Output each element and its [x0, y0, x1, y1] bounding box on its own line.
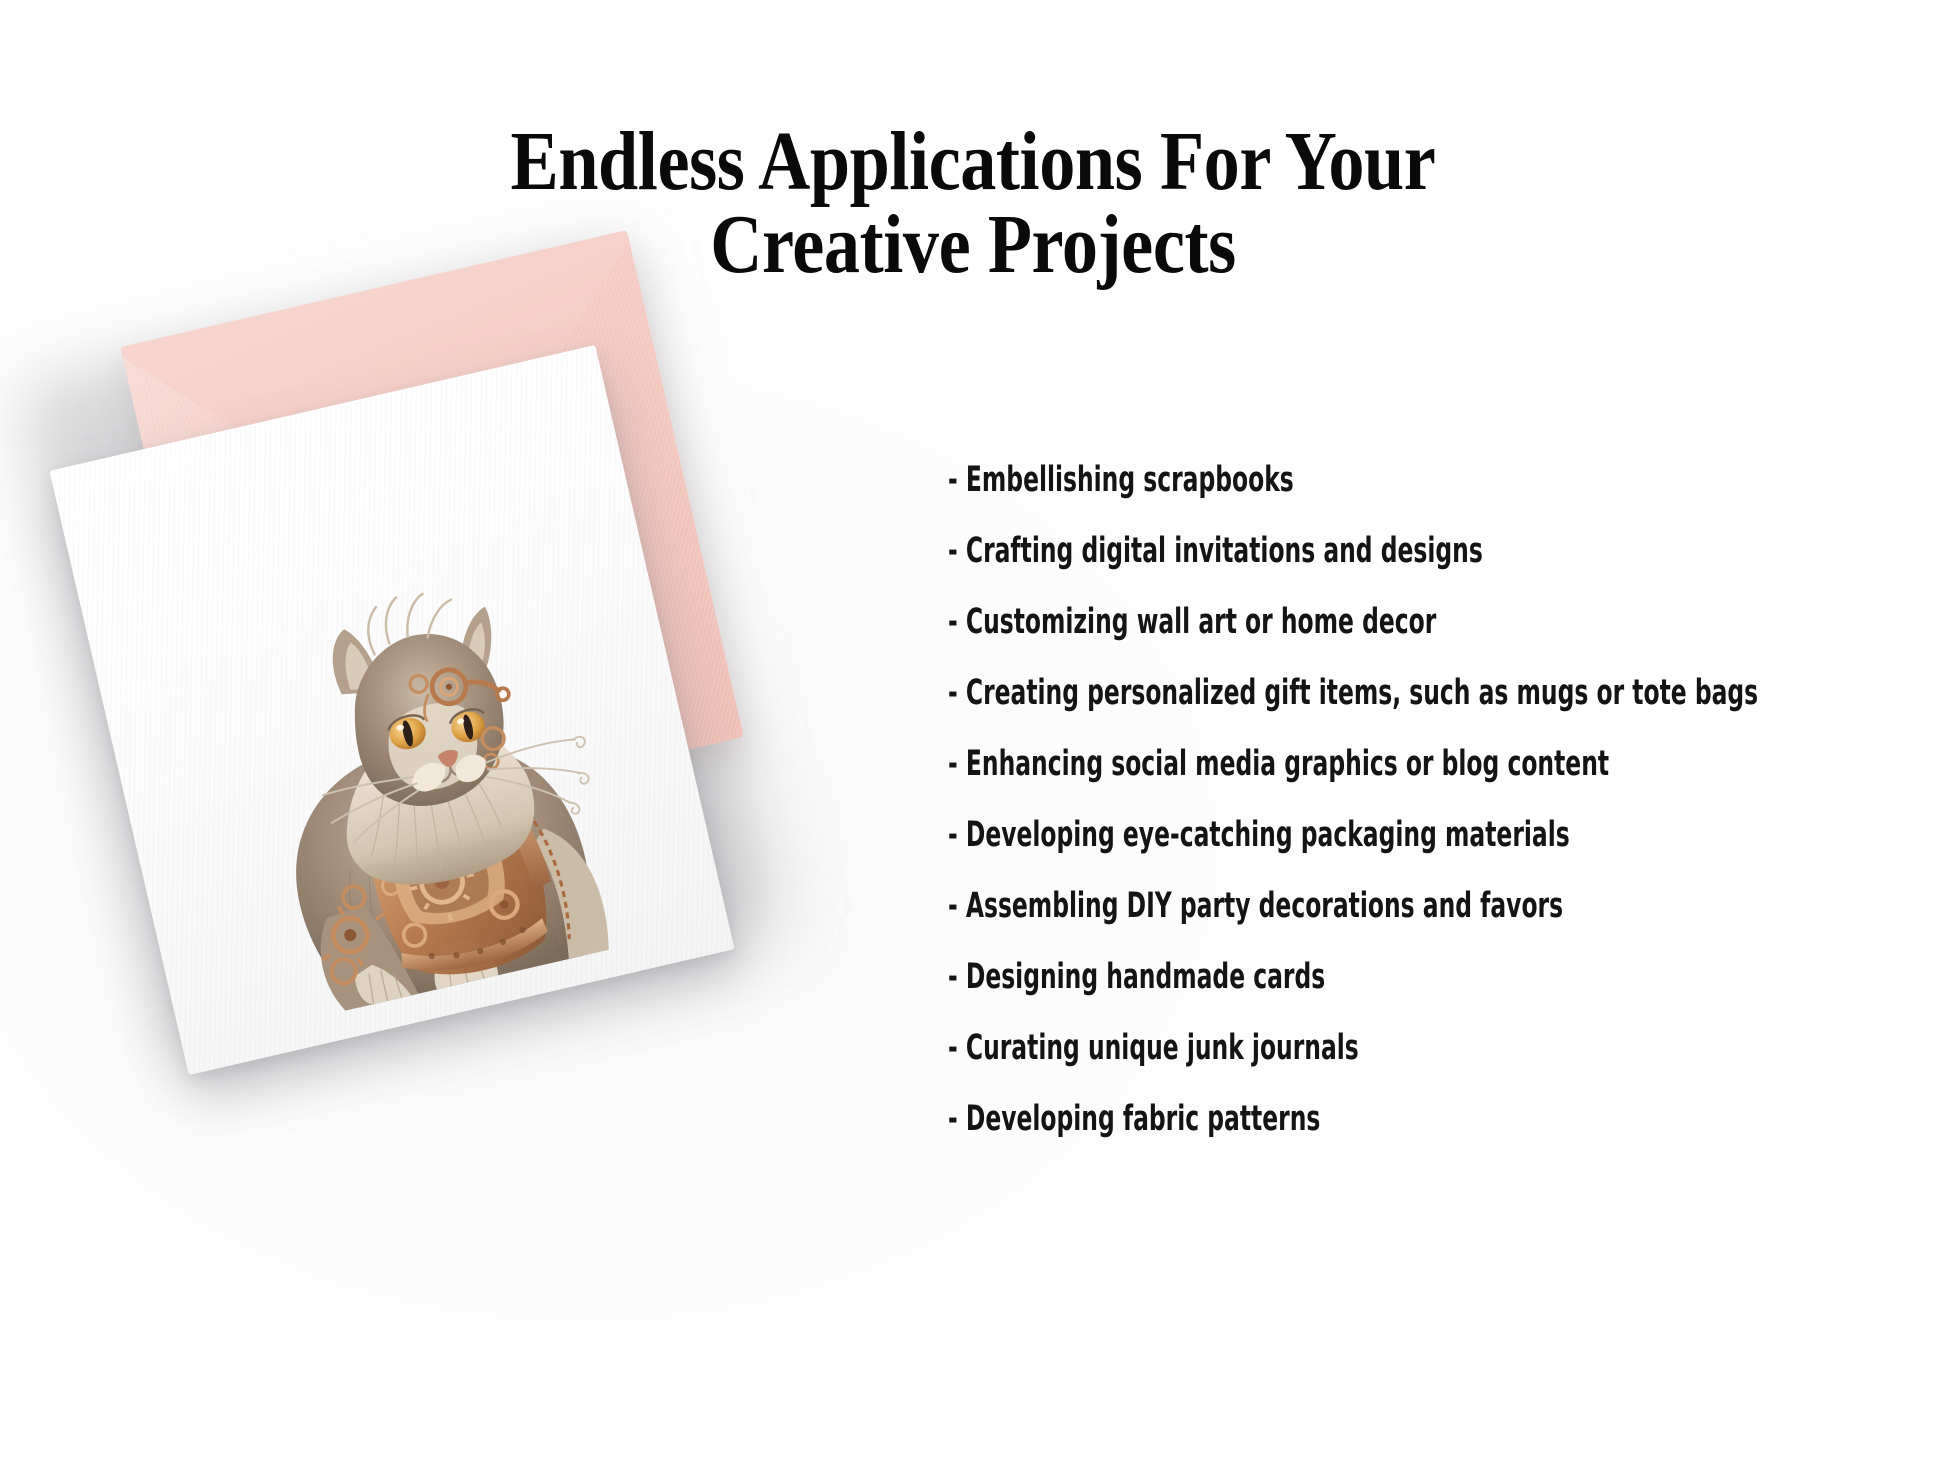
list-item: - Customizing wall art or home decor — [948, 605, 1754, 640]
list-item: - Crafting digital invitations and desig… — [948, 534, 1754, 569]
applications-list: - Embellishing scrapbooks - Crafting dig… — [948, 465, 1908, 1135]
list-item: - Enhancing social media graphics or blo… — [948, 747, 1754, 782]
list-item: - Developing eye-catching packaging mate… — [948, 818, 1754, 853]
list-item: - Assembling DIY party decorations and f… — [948, 889, 1754, 924]
list-item: - Developing fabric patterns — [948, 1102, 1754, 1137]
list-item: - Curating unique junk journals — [948, 1031, 1754, 1066]
list-item: - Designing handmade cards — [948, 960, 1754, 995]
page-title-line-1: Endless Applications For Your — [136, 120, 1810, 203]
steampunk-cat-illustration — [113, 485, 696, 1043]
list-item: - Embellishing scrapbooks — [948, 463, 1754, 498]
greeting-card-mockup — [60, 250, 780, 1080]
poster-canvas: Endless Applications For Your Creative P… — [0, 0, 1946, 1459]
list-item: - Creating personalized gift items, such… — [948, 676, 1754, 711]
